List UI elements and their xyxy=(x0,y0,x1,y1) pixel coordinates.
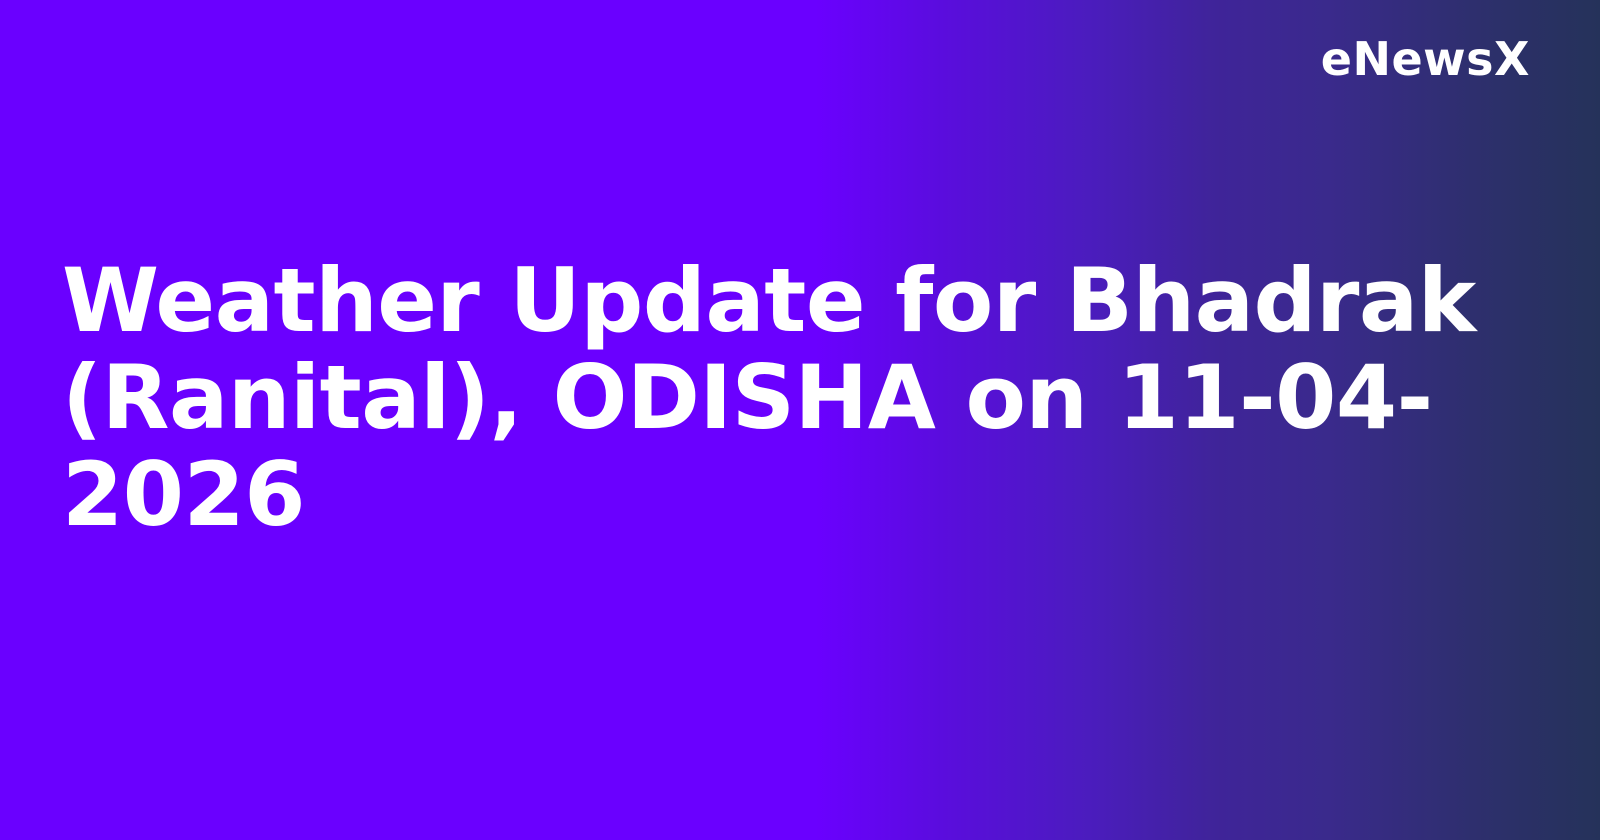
headline-block: Weather Update for Bhadrak (Ranital), OD… xyxy=(62,252,1482,543)
enewsx-logo[interactable]: eNewsX xyxy=(1321,36,1530,82)
news-hero-card: eNewsX Weather Update for Bhadrak (Ranit… xyxy=(0,0,1600,840)
page-title: Weather Update for Bhadrak (Ranital), OD… xyxy=(62,252,1482,543)
